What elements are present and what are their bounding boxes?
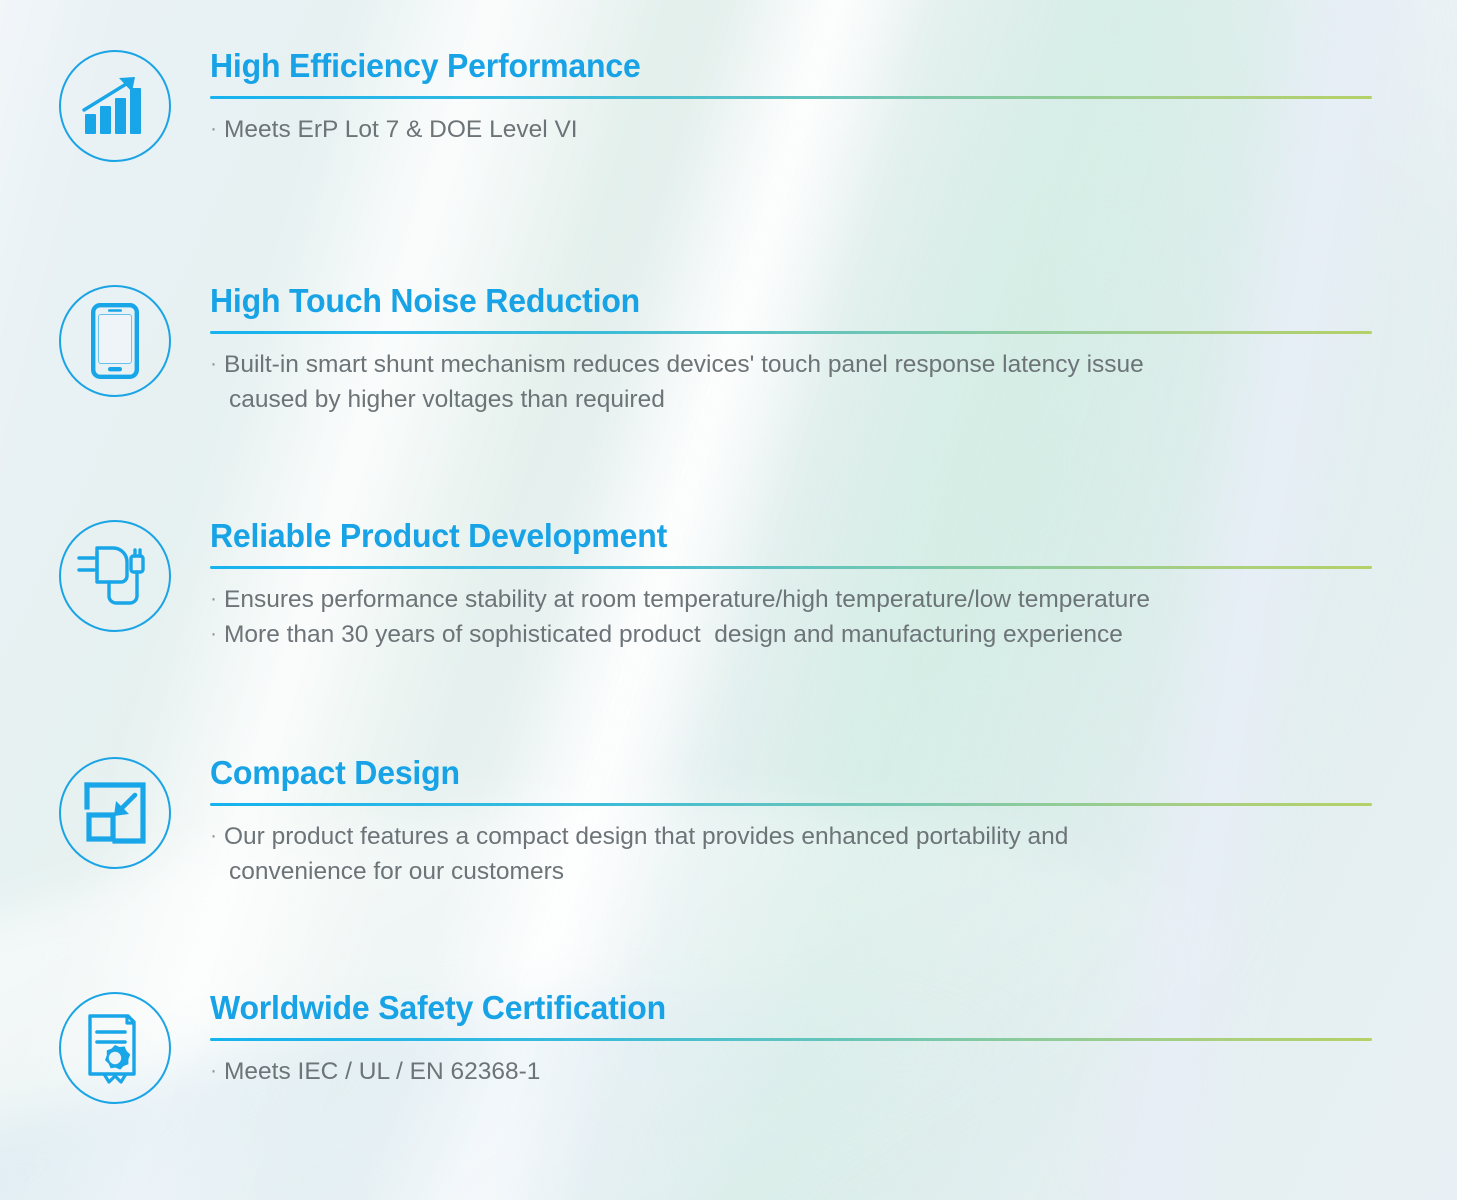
feature-body: High Touch Noise Reduction ·Built-in sma… <box>178 283 1457 417</box>
bullet-line: ·Meets ErP Lot 7 & DOE Level VI <box>210 112 1377 147</box>
bullet-text: convenience for our customers <box>229 858 564 885</box>
bullet-text: Meets IEC / UL / EN 62368-1 <box>224 1058 540 1085</box>
power-adapter-icon <box>59 520 171 632</box>
feature-divider <box>210 566 1372 569</box>
bullet-marker: · <box>210 1059 217 1082</box>
smartphone-icon <box>59 285 171 397</box>
certificate-award-icon <box>59 992 171 1104</box>
feature-body: High Efficiency Performance ·Meets ErP L… <box>178 48 1457 147</box>
feature-title: Reliable Product Development <box>210 518 1342 555</box>
bullet-line-continuation: caused by higher voltages than required <box>210 382 1377 417</box>
feature-icon-wrap <box>52 48 178 162</box>
feature-title: High Efficiency Performance <box>210 48 1342 85</box>
bullet-line: ·More than 30 years of sophisticated pro… <box>210 617 1377 652</box>
feature-item-worldwide-safety-certification: Worldwide Safety Certification ·Meets IE… <box>0 990 1457 1104</box>
feature-icon-wrap <box>52 755 178 869</box>
bullet-line: ·Built-in smart shunt mechanism reduces … <box>210 347 1377 382</box>
feature-icon-wrap <box>52 518 178 632</box>
bullet-text: Built-in smart shunt mechanism reduces d… <box>224 351 1144 378</box>
bullet-text: Our product features a compact design th… <box>224 823 1068 850</box>
bullet-text: Meets ErP Lot 7 & DOE Level VI <box>224 116 578 143</box>
bullet-text: More than 30 years of sophisticated prod… <box>224 621 1123 648</box>
feature-bullets: ·Ensures performance stability at room t… <box>210 582 1377 652</box>
bullet-marker: · <box>210 824 217 847</box>
feature-title: Compact Design <box>210 755 1342 792</box>
compact-resize-icon <box>59 757 171 869</box>
bullet-line-continuation: convenience for our customers <box>210 854 1377 889</box>
bar-chart-growth-icon <box>59 50 171 162</box>
bullet-marker: · <box>210 587 217 610</box>
feature-body: Worldwide Safety Certification ·Meets IE… <box>178 990 1457 1089</box>
feature-icon-wrap <box>52 283 178 397</box>
feature-body: Reliable Product Development ·Ensures pe… <box>178 518 1457 652</box>
bullet-text: Ensures performance stability at room te… <box>224 586 1150 613</box>
features-list: High Efficiency Performance ·Meets ErP L… <box>0 0 1457 1200</box>
bullet-line: ·Meets IEC / UL / EN 62368-1 <box>210 1054 1377 1089</box>
bullet-marker: · <box>210 117 217 140</box>
feature-divider <box>210 803 1372 806</box>
feature-bullets: ·Meets ErP Lot 7 & DOE Level VI <box>210 112 1377 147</box>
feature-bullets: ·Meets IEC / UL / EN 62368-1 <box>210 1054 1377 1089</box>
feature-item-reliable-product-development: Reliable Product Development ·Ensures pe… <box>0 518 1457 652</box>
bullet-marker: · <box>210 352 217 375</box>
feature-item-compact-design: Compact Design ·Our product features a c… <box>0 755 1457 889</box>
feature-item-high-touch-noise-reduction: High Touch Noise Reduction ·Built-in sma… <box>0 283 1457 417</box>
feature-divider <box>210 331 1372 334</box>
feature-title: Worldwide Safety Certification <box>210 990 1342 1027</box>
bullet-text: caused by higher voltages than required <box>229 386 665 413</box>
feature-divider <box>210 1038 1372 1041</box>
feature-item-high-efficiency-performance: High Efficiency Performance ·Meets ErP L… <box>0 48 1457 162</box>
feature-bullets: ·Our product features a compact design t… <box>210 819 1377 889</box>
bullet-marker: · <box>210 622 217 645</box>
feature-divider <box>210 96 1372 99</box>
feature-body: Compact Design ·Our product features a c… <box>178 755 1457 889</box>
feature-bullets: ·Built-in smart shunt mechanism reduces … <box>210 347 1377 417</box>
bullet-line: ·Our product features a compact design t… <box>210 819 1377 854</box>
feature-title: High Touch Noise Reduction <box>210 283 1342 320</box>
bullet-line: ·Ensures performance stability at room t… <box>210 582 1377 617</box>
feature-icon-wrap <box>52 990 178 1104</box>
